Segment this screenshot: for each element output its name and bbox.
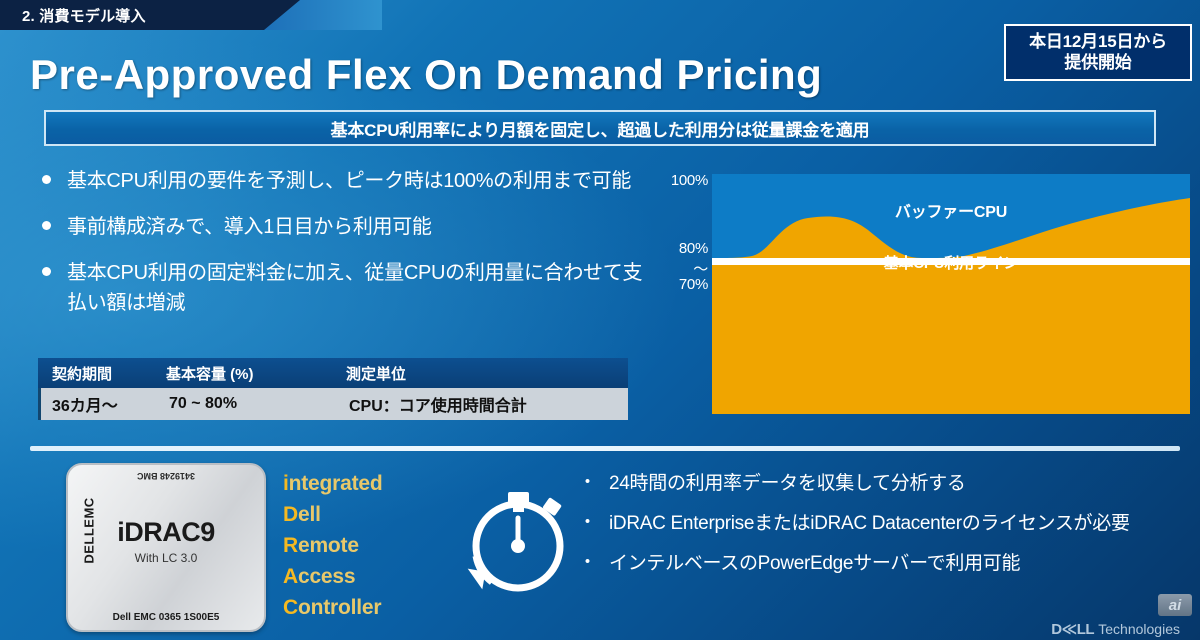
table-header-cell: 測定単位 [346,363,628,384]
bottom-bullet-list: ・ 24時間の利用率データを収集して分析する ・ iDRAC Enterpris… [578,470,1178,590]
chip-sub-label: With LC 3.0 [68,551,264,565]
chart-svg [712,174,1190,414]
axis-tick-70: 70% [652,276,708,293]
badge-line-2: 提供開始 [1012,52,1184,73]
bullet-dot-icon [42,267,51,276]
acronym-rest: ntegrated [289,472,383,495]
section-tag: 2. 消費モデル導入 [0,0,300,30]
table-header-row: 契約期間 基本容量 (%) 測定単位 [38,358,628,388]
chart-baseline [712,258,1190,265]
acronym-initial: R [283,534,298,557]
acronym-initial: A [283,565,298,588]
acronym-initial: D [283,503,298,526]
acronym-line: Controller [283,592,383,623]
acronym-rest: ell [298,503,321,526]
bullet-text: 24時間の利用率データを収集して分析する [609,470,966,498]
section-divider [30,446,1180,451]
bullet-dot-icon [42,175,51,184]
list-item: 事前構成済みで、導入1日目から利用可能 [36,212,656,242]
bullet-text: 基本CPU利用の固定料金に加え、従量CPUの利用量に合わせて支払い額は増減 [67,258,656,318]
idrac9-chip-image: 3419248 BMC DELLEMC iDRAC9 With LC 3.0 D… [66,463,266,632]
acronym-line: Access [283,561,383,592]
stopwatch-svg [452,478,580,603]
axis-tick-100: 100% [652,172,708,189]
table-cell: 36カ月～ [41,392,169,416]
chart-orange-area [712,198,1190,414]
subtitle-band-label: 基本CPU利用率により月額を固定し、超過した利用分は従量課金を適用 [331,116,870,141]
bullet-marker-icon: ・ [578,510,597,536]
chip-bottom-code: Dell EMC 0365 1S00E5 [68,612,264,623]
list-item: ・ iDRAC EnterpriseまたはiDRAC Datacenterのライ… [578,510,1178,538]
bullet-marker-icon: ・ [578,550,597,576]
acronym-line: Dell [283,499,383,530]
pricing-table: 契約期間 基本容量 (%) 測定単位 36カ月～ 70 ~ 80% CPU：コア… [38,358,628,420]
list-item: ・ 24時間の利用率データを収集して分析する [578,470,1178,498]
list-item: 基本CPU利用の固定料金に加え、従量CPUの利用量に合わせて支払い額は増減 [36,258,656,318]
table-cell: CPU：コア使用時間合計 [349,392,628,416]
chart-plot-area [712,174,1190,414]
bullet-text: iDRAC EnterpriseまたはiDRAC Datacenterのライセン… [609,510,1130,538]
stopwatch-icon [452,478,580,603]
acronym-rest: emote [298,534,359,557]
launch-date-badge: 本日12月15日から 提供開始 [1004,24,1192,81]
chip-main-label: iDRAC9 [68,517,264,548]
footer-brand: D≪LL [1051,621,1094,638]
idrac-acronym-list: integrated Dell Remote Access Controller [283,468,383,623]
table-row: 36カ月～ 70 ~ 80% CPU：コア使用時間合計 [38,388,628,420]
acronym-rest: ontroller [298,596,381,619]
acronym-rest: ccess [298,565,355,588]
subtitle-band: 基本CPU利用率により月額を固定し、超過した利用分は従量課金を適用 [44,110,1156,146]
dell-technologies-logo: D≪LL Technologies [1051,620,1180,638]
bullet-marker-icon: ・ [578,470,597,496]
list-item: ・ インテルベースのPowerEdgeサーバーで利用可能 [578,550,1178,578]
bullet-text: 事前構成済みで、導入1日目から利用可能 [67,212,432,242]
list-item: 基本CPU利用の要件を予測し、ピーク時は100%の利用まで可能 [36,166,656,196]
acronym-line: integrated [283,468,383,499]
slide-canvas: 2. 消費モデル導入 本日12月15日から 提供開始 Pre-Approved … [0,0,1200,640]
left-bullet-list: 基本CPU利用の要件を予測し、ピーク時は100%の利用まで可能 事前構成済みで、… [36,166,656,334]
footer-brand-suffix: Technologies [1098,621,1180,637]
table-cell: 70 ~ 80% [169,395,349,413]
bullet-text: インテルベースのPowerEdgeサーバーで利用可能 [609,550,1020,578]
table-header-cell: 契約期間 [38,363,166,384]
section-tag-label: 2. 消費モデル導入 [22,5,146,26]
bullet-text: 基本CPU利用の要件を予測し、ピーク時は100%の利用まで可能 [67,166,631,196]
acronym-initial: C [283,596,298,619]
ai-watermark-logo: ai [1158,594,1192,616]
chip-top-code: 3419248 BMC [68,471,264,481]
acronym-line: Remote [283,530,383,561]
axis-tick-80: 80% [652,240,708,257]
page-title: Pre-Approved Flex On Demand Pricing [30,52,822,98]
badge-line-1: 本日12月15日から [1012,31,1184,52]
bullet-dot-icon [42,221,51,230]
cpu-usage-area-chart: 100% 80% ～ 70% バッファーCPU 基本CPU利用ライン [652,168,1192,423]
table-header-cell: 基本容量 (%) [166,363,346,384]
